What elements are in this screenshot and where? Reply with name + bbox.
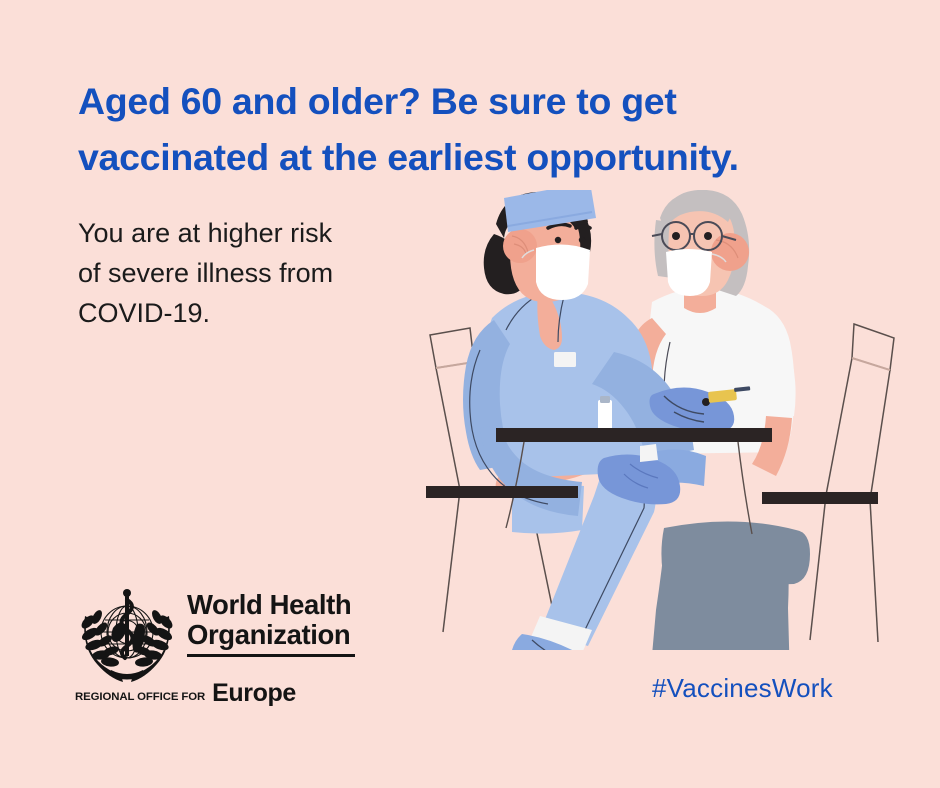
who-rod-top (123, 589, 131, 597)
patient-thigh (661, 521, 810, 588)
nurse-eyebrow-right (576, 226, 590, 228)
who-name-line-1: World Health (187, 590, 357, 620)
right-chair-icon (810, 324, 894, 642)
nurse-face-mask (536, 244, 590, 300)
campaign-hashtag: #VaccinesWork (652, 673, 833, 704)
subheading-text: You are at higher risk of severe illness… (78, 214, 418, 334)
nurse-cuff-white (640, 444, 658, 462)
who-wordmark: World Health Organization (187, 590, 357, 662)
patient-chair-seat (762, 492, 878, 504)
who-region-name: Europe (212, 679, 296, 708)
who-name-line-2: Organization (187, 620, 357, 650)
nurse-name-badge (554, 352, 576, 367)
who-logo: World Health Organization REGIONAL OFFIC… (75, 584, 360, 702)
illustration-svg (408, 190, 940, 650)
nurse-chair-seat (426, 486, 578, 498)
who-region-block: REGIONAL OFFICE FOR Europe (75, 678, 360, 707)
vaccine-vial-cap (600, 396, 610, 403)
who-region-prefix: REGIONAL OFFICE FOR (75, 691, 205, 703)
page-title: Aged 60 and older? Be sure to get vaccin… (78, 74, 868, 185)
patient-eye-right (704, 232, 712, 240)
who-emblem-icon (75, 584, 179, 688)
nurse-eye-left (555, 237, 561, 243)
vaccine-vial (598, 400, 612, 430)
table-top (496, 428, 772, 442)
table-leg-right (738, 442, 752, 534)
vaccination-scene-illustration (408, 190, 940, 650)
right-chair-seat-line (852, 358, 890, 370)
patient-eye-left (672, 232, 680, 240)
who-emblem-svg (75, 584, 179, 688)
poster-canvas: Aged 60 and older? Be sure to get vaccin… (0, 0, 940, 788)
nurse-eye-right (579, 237, 585, 243)
who-divider-rule (187, 654, 355, 657)
patient-face-mask (666, 249, 712, 296)
